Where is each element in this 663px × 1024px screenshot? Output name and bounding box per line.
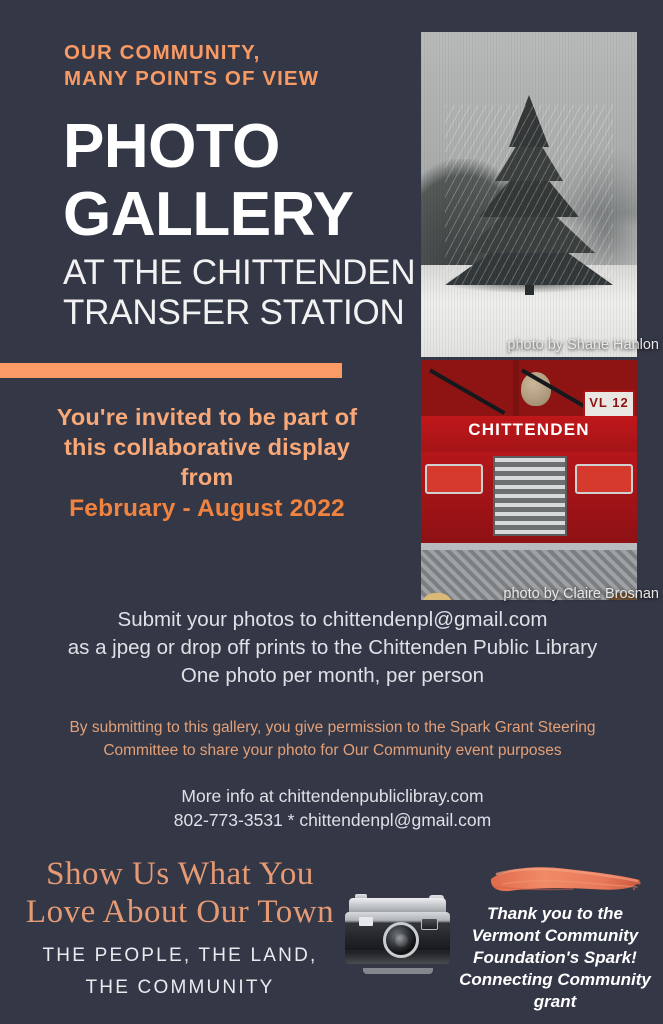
permission-line-1: By submitting to this gallery, you give … bbox=[30, 716, 635, 739]
camera-viewfinder bbox=[421, 918, 438, 930]
contact-phone-email[interactable]: 802-773-3531 * chittendenpl@gmail.com bbox=[30, 808, 635, 832]
footer-tagline-line-2: THE COMMUNITY bbox=[20, 972, 340, 1004]
footer-tagline: THE PEOPLE, THE LAND, THE COMMUNITY bbox=[20, 940, 340, 1004]
photo-fire-truck: VL 12 CHITTENDEN bbox=[421, 360, 637, 600]
title-line-1: PHOTO bbox=[63, 112, 280, 181]
thanks-line-2: Vermont Community bbox=[455, 925, 655, 947]
submission-line-3: One photo per month, per person bbox=[10, 662, 655, 690]
truck-license-plate: VL 12 bbox=[583, 390, 635, 418]
contact-info: More info at chittendenpubliclibray.com … bbox=[30, 784, 635, 832]
contact-website[interactable]: More info at chittendenpubliclibray.com bbox=[30, 784, 635, 808]
thanks-line-5: grant bbox=[455, 991, 655, 1013]
footer-script-line-1: Show Us What You bbox=[20, 855, 340, 893]
truck-windshield-divider bbox=[513, 360, 519, 422]
truck-lamp-right bbox=[575, 464, 633, 494]
photo-snowy-tree bbox=[421, 32, 637, 357]
subtitle-line-1: AT THE CHITTENDEN bbox=[63, 253, 423, 293]
truck-bumper-lip bbox=[421, 543, 637, 550]
permission-notice: By submitting to this gallery, you give … bbox=[30, 716, 635, 762]
footer-script-line-2: Love About Our Town bbox=[20, 893, 340, 931]
thanks-line-4: Connecting Community bbox=[455, 969, 655, 991]
title-line-2: GALLERY bbox=[63, 184, 423, 246]
footer-script-heading: Show Us What You Love About Our Town bbox=[20, 855, 340, 931]
submission-line-2: as a jpeg or drop off prints to the Chit… bbox=[10, 634, 655, 662]
page-title: PHOTO GALLERY bbox=[63, 116, 423, 246]
truck-lamp-left bbox=[425, 464, 483, 494]
kicker-line-2: MANY POINTS OF VIEW bbox=[64, 66, 414, 92]
submission-line-1: Submit your photos to chittendenpl@gmail… bbox=[10, 606, 655, 634]
thanks-line-3: Foundation's Spark! bbox=[455, 947, 655, 969]
invitation-line-2: this collaborative display bbox=[12, 432, 402, 462]
footer-tagline-line-1: THE PEOPLE, THE LAND, bbox=[20, 940, 340, 972]
invitation-block: You're invited to be part of this collab… bbox=[12, 402, 402, 524]
photo-credit-2: photo by Claire Brosnan bbox=[503, 586, 659, 602]
orange-divider-bar bbox=[0, 363, 342, 378]
photo-film-grain bbox=[421, 32, 637, 357]
permission-line-2: Committee to share your photo for Our Co… bbox=[30, 739, 635, 762]
truck-grille bbox=[493, 456, 567, 536]
kicker-line-1: OUR COMMUNITY, bbox=[64, 40, 414, 66]
poster-kicker: OUR COMMUNITY, MANY POINTS OF VIEW bbox=[64, 40, 414, 92]
camera-icon bbox=[345, 898, 450, 970]
camera-lens-aperture bbox=[395, 934, 408, 947]
thanks-line-1: Thank you to the bbox=[455, 903, 655, 925]
invitation-dates: February - August 2022 bbox=[12, 494, 402, 524]
brush-stroke-icon bbox=[487, 862, 644, 902]
subtitle-line-2: TRANSFER STATION bbox=[63, 293, 423, 333]
poster-canvas: OUR COMMUNITY, MANY POINTS OF VIEW PHOTO… bbox=[0, 0, 663, 1024]
thank-you-block: Thank you to the Vermont Community Found… bbox=[455, 903, 655, 1013]
photo-credit-1: photo by Shane Hanlon bbox=[507, 337, 659, 353]
invitation-line-3: from bbox=[12, 462, 402, 492]
invitation-line-1: You're invited to be part of bbox=[12, 402, 402, 432]
submission-instructions: Submit your photos to chittendenpl@gmail… bbox=[10, 606, 655, 690]
truck-name-text: CHITTENDEN bbox=[421, 420, 637, 440]
page-subtitle: AT THE CHITTENDEN TRANSFER STATION bbox=[63, 253, 423, 333]
camera-base bbox=[363, 968, 433, 974]
camera-light-meter bbox=[359, 917, 373, 926]
